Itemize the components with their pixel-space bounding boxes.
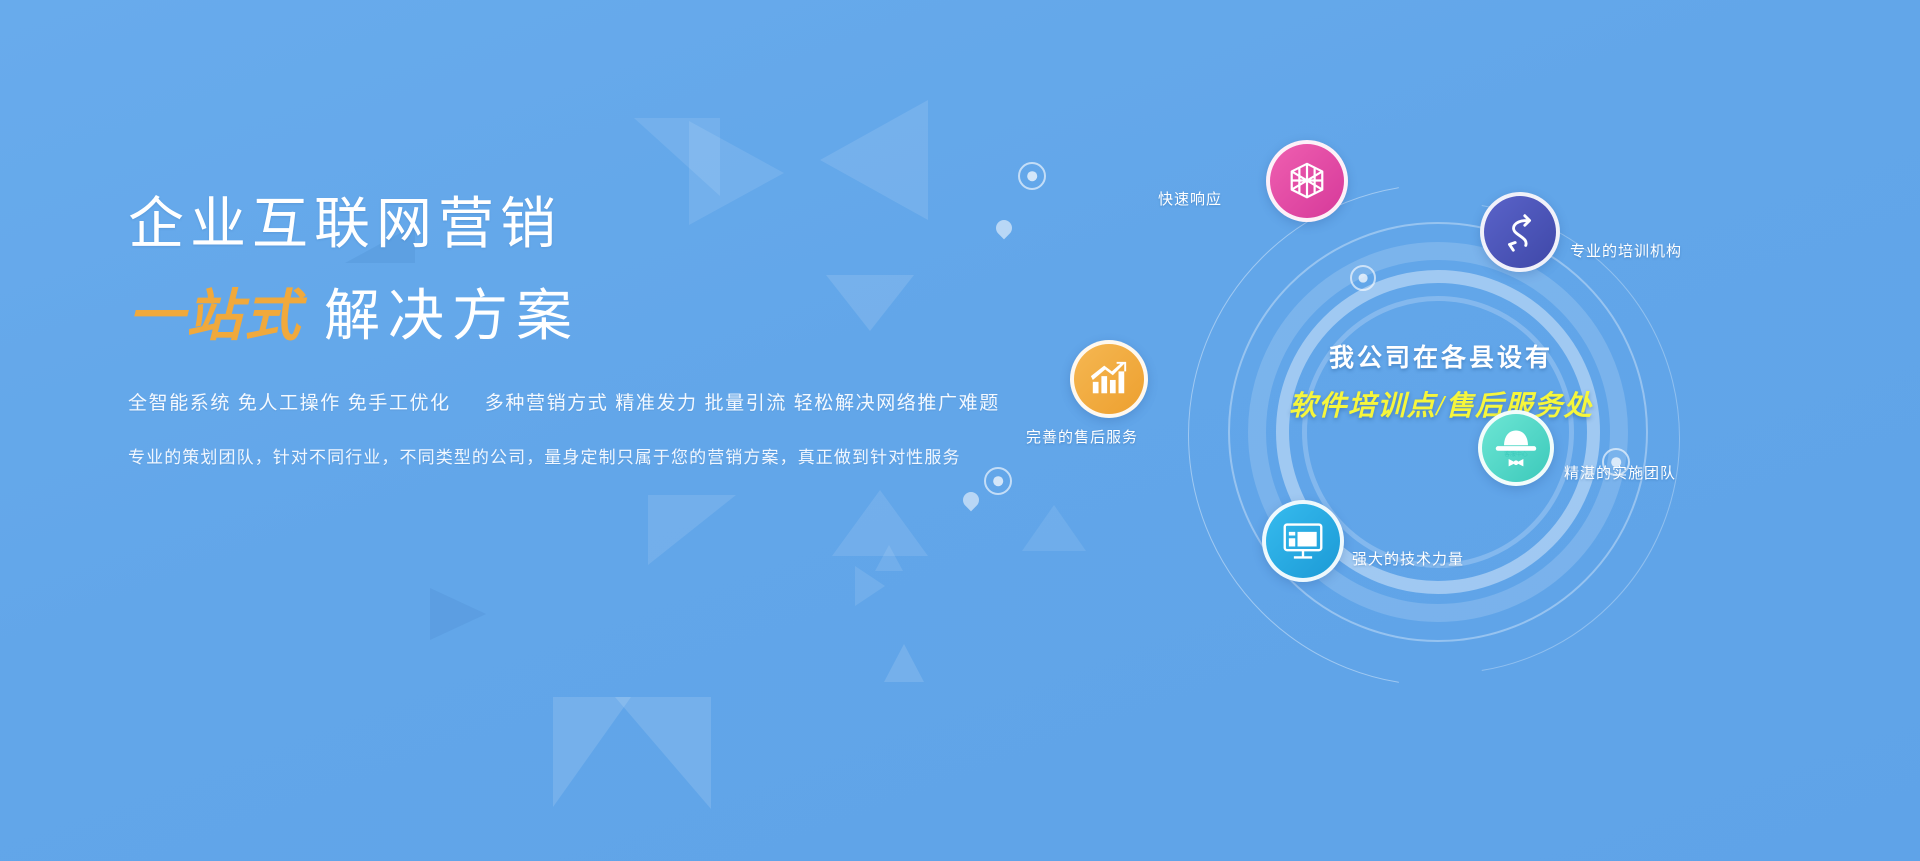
subtitle-line-1: 全智能系统 免人工操作 免手工优化多种营销方式 精准发力 批量引流 轻松解决网络… bbox=[128, 388, 1058, 415]
bg-triangle-10 bbox=[884, 644, 924, 682]
service-circle-graphic: 我公司在各县设有 软件培训点/售后服务处 快速响应 bbox=[1080, 110, 1920, 750]
support-hat-icon: 客服中心 bbox=[1490, 425, 1542, 471]
subtitle-line-2: 专业的策划团队，针对不同行业，不同类型的公司，量身定制只属于您的营销方案，真正做… bbox=[128, 443, 1058, 468]
node-professional-training[interactable]: 专业的培训机构 bbox=[1480, 192, 1560, 272]
node-label-professional-training: 专业的培训机构 bbox=[1570, 240, 1682, 261]
banner-stage: 企业互联网营销 一站式解决方案 全智能系统 免人工操作 免手工优化多种营销方式 … bbox=[0, 0, 1920, 861]
node-fast-response[interactable]: 快速响应 bbox=[1266, 140, 1348, 222]
arrow-loop-icon bbox=[1497, 209, 1543, 255]
center-label-line-1: 我公司在各县设有 bbox=[1276, 338, 1606, 374]
target-marker-left bbox=[984, 467, 1012, 495]
strong-technology-bubble[interactable] bbox=[1262, 500, 1344, 582]
node-skilled-implementation[interactable]: 客服中心 精湛的实施团队 bbox=[1478, 410, 1554, 486]
node-label-strong-technology: 强大的技术力量 bbox=[1352, 548, 1464, 569]
professional-training-bubble[interactable] bbox=[1480, 192, 1560, 272]
after-sales-service-bubble[interactable] bbox=[1070, 340, 1148, 418]
bg-triangle-12 bbox=[615, 697, 711, 809]
target-marker-right bbox=[1350, 265, 1376, 291]
page-title: 企业互联网营销 bbox=[128, 196, 1058, 252]
headline-accent: 一站式 bbox=[128, 284, 324, 347]
bg-triangle-8 bbox=[855, 566, 885, 606]
subtitle-segment-a: 全智能系统 免人工操作 免手工优化 bbox=[128, 393, 451, 414]
bg-triangle-9 bbox=[430, 588, 486, 640]
svg-text:客服中心: 客服中心 bbox=[1504, 450, 1528, 458]
map-pin-bottom bbox=[960, 489, 983, 512]
headline-rest: 解决方案 bbox=[324, 284, 580, 347]
node-label-skilled-implementation: 精湛的实施团队 bbox=[1564, 462, 1676, 483]
fast-response-bubble[interactable] bbox=[1266, 140, 1348, 222]
hero-copy: 企业互联网营销 一站式解决方案 全智能系统 免人工操作 免手工优化多种营销方式 … bbox=[128, 196, 1058, 468]
bg-triangle-14 bbox=[1022, 505, 1086, 551]
headline-secondary: 一站式解决方案 bbox=[128, 288, 1058, 344]
bg-triangle-6 bbox=[648, 495, 736, 565]
subtitle-segment-b: 多种营销方式 精准发力 批量引流 轻松解决网络推广难题 bbox=[485, 393, 1000, 414]
cube-icon bbox=[1286, 160, 1328, 202]
node-label-fast-response: 快速响应 bbox=[1158, 188, 1222, 209]
bg-triangle-7 bbox=[832, 490, 928, 556]
bg-triangle-11 bbox=[553, 697, 631, 807]
growth-chart-icon bbox=[1087, 359, 1131, 399]
bg-triangle-13 bbox=[875, 545, 903, 571]
center-label: 我公司在各县设有 软件培训点/售后服务处 bbox=[1276, 338, 1606, 424]
center-label-line-2: 软件培训点/售后服务处 bbox=[1276, 384, 1606, 424]
node-label-after-sales-service: 完善的售后服务 bbox=[1026, 426, 1138, 447]
node-after-sales-service[interactable]: 完善的售后服务 bbox=[1070, 340, 1148, 418]
bg-triangle-1 bbox=[634, 118, 720, 196]
skilled-implementation-bubble[interactable]: 客服中心 bbox=[1478, 410, 1554, 486]
monitor-icon bbox=[1280, 520, 1326, 562]
target-marker-top-left bbox=[1018, 162, 1046, 190]
node-strong-technology[interactable]: 强大的技术力量 bbox=[1262, 500, 1344, 582]
